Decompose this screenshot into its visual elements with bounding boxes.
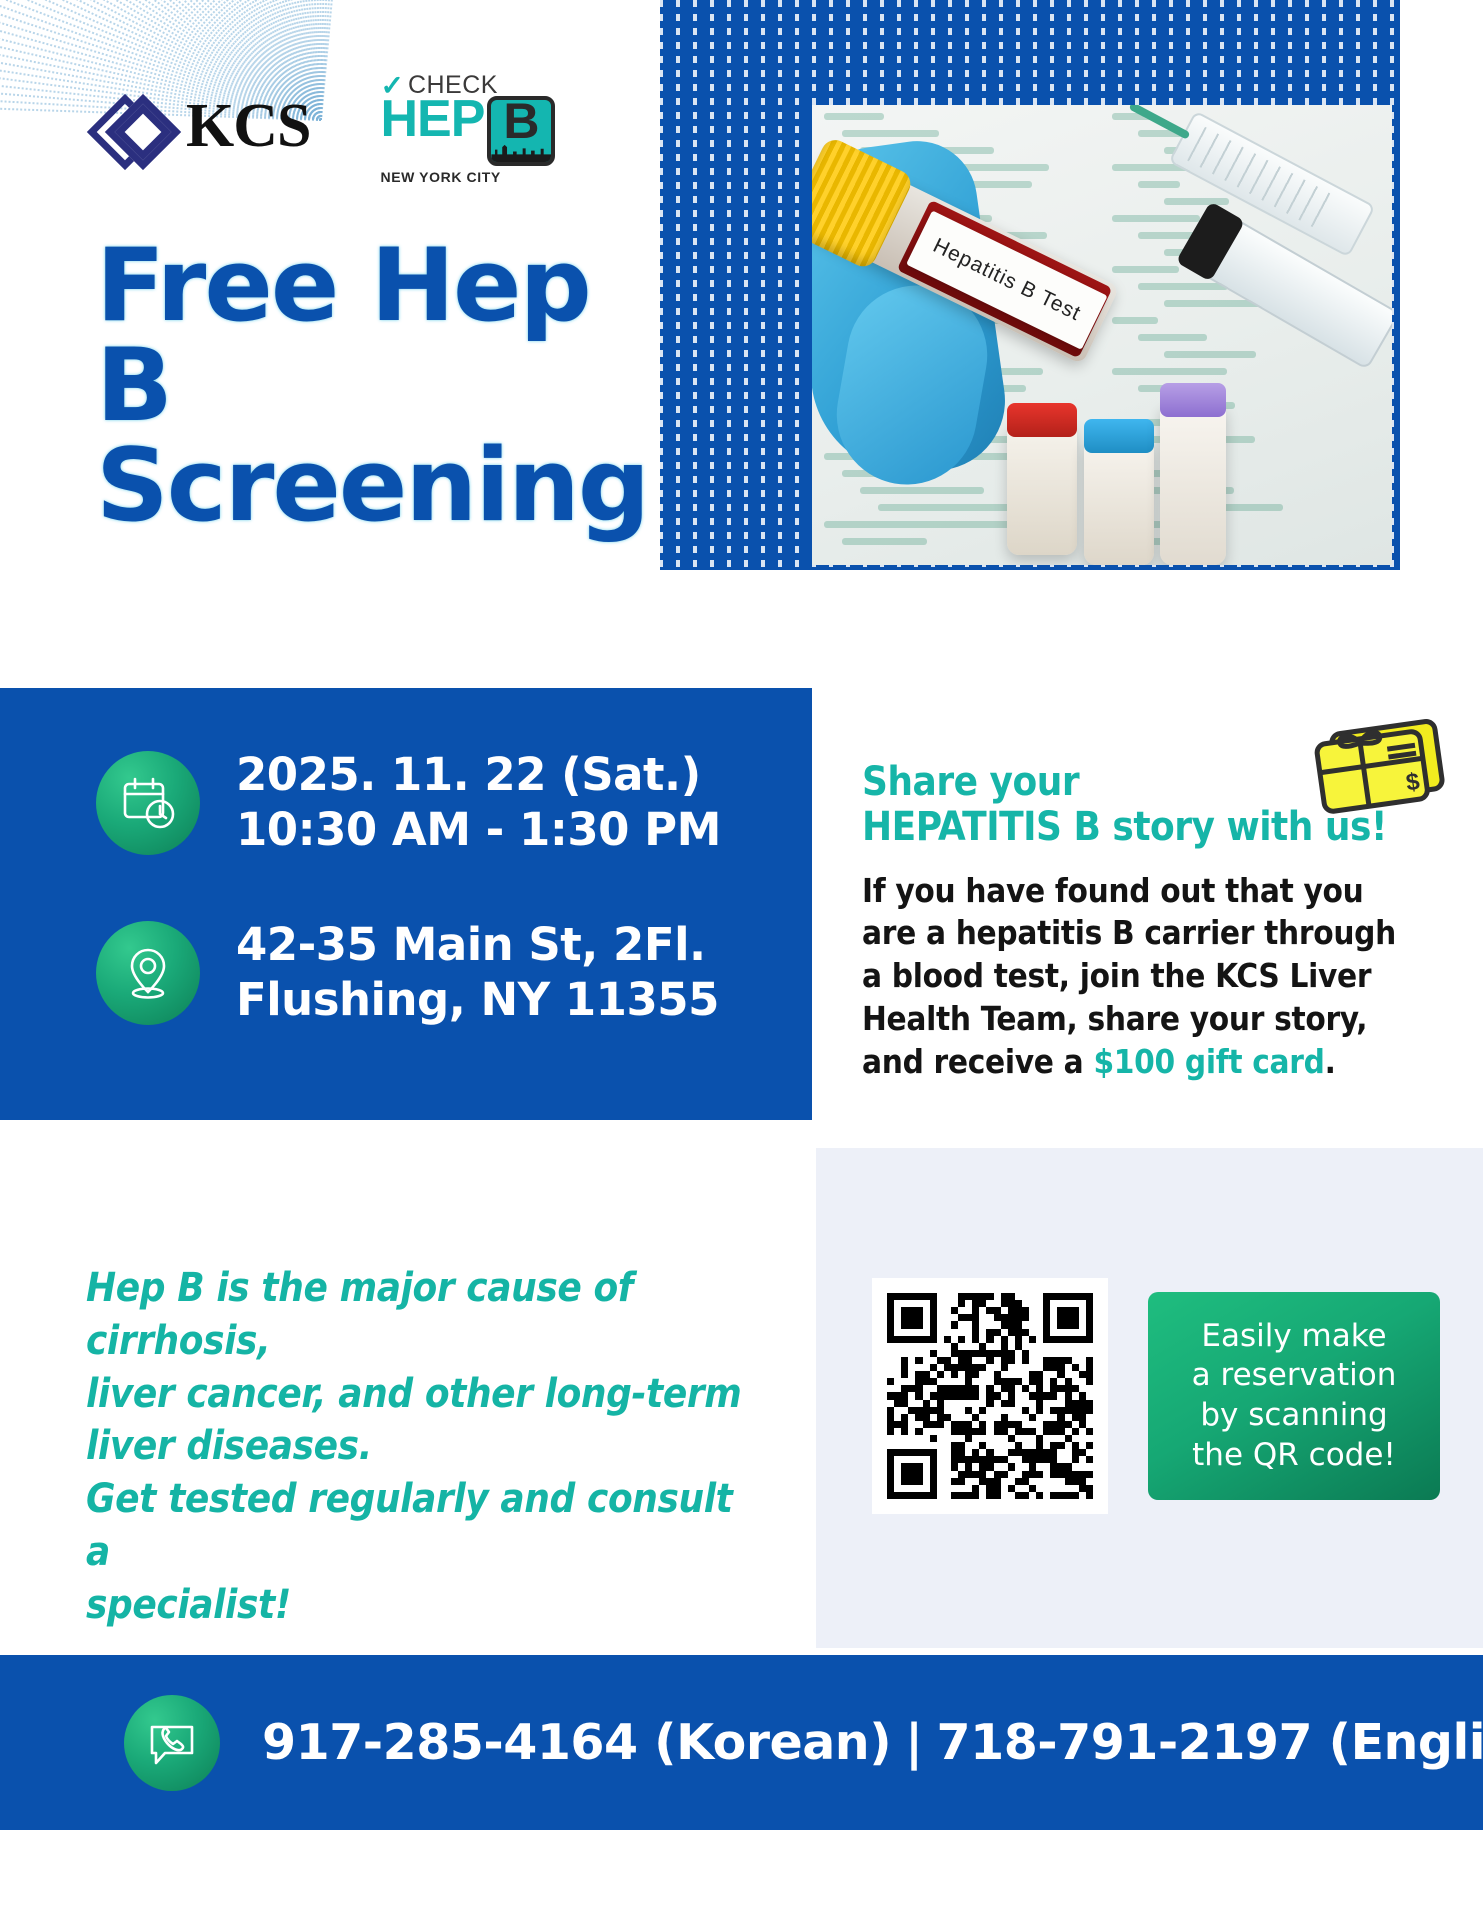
- headline-line-1: Free Hep B: [96, 235, 656, 435]
- checkhep-b-badge: B: [487, 96, 555, 166]
- health-statement: Hep B is the major cause of cirrhosis, l…: [86, 1262, 766, 1632]
- flyer-poster: KCS ✓ CHECK HEP B NEW YORK CITY Free Hep…: [0, 0, 1483, 1920]
- reservation-line-3: by scanning: [1200, 1397, 1387, 1433]
- event-info-panel: 2025. 11. 22 (Sat.) 10:30 AM - 1:30 PM 4…: [0, 688, 812, 1120]
- logo-row: KCS ✓ CHECK HEP B NEW YORK CITY: [96, 66, 555, 185]
- reservation-qr-code[interactable]: [872, 1278, 1108, 1514]
- page-title: Free Hep B Screening: [96, 235, 656, 535]
- share-story-body: If you have found out that you are a hep…: [862, 870, 1422, 1084]
- reservation-text: Easily make a reservation by scanning th…: [1192, 1317, 1397, 1476]
- checkhep-b-letter: B: [503, 96, 539, 146]
- event-address-line2: Flushing, NY 11355: [236, 973, 719, 1028]
- phone-chat-icon: [124, 1695, 220, 1791]
- event-time: 10:30 AM - 1:30 PM: [236, 803, 721, 858]
- statement-line-4: Get tested regularly and consult a: [86, 1473, 766, 1579]
- event-datetime-row: 2025. 11. 22 (Sat.) 10:30 AM - 1:30 PM: [96, 748, 721, 858]
- reservation-line-2: a reservation: [1192, 1357, 1397, 1393]
- contact-bar: 917-285-4164 (Korean)|718-791-2197 (Engl…: [0, 1655, 1483, 1830]
- blood-test-photo: Hepatitis B Test: [812, 105, 1392, 565]
- kcs-diamond-icon: [96, 87, 174, 165]
- statement-line-3: liver diseases.: [86, 1420, 766, 1473]
- event-address-line1: 42-35 Main St, 2Fl.: [236, 918, 719, 973]
- map-pin-icon: [96, 921, 200, 1025]
- phone-korean[interactable]: 917-285-4164 (Korean): [262, 1714, 891, 1771]
- statement-line-5: specialist!: [86, 1579, 766, 1632]
- event-address-text: 42-35 Main St, 2Fl. Flushing, NY 11355: [236, 918, 719, 1028]
- event-datetime-text: 2025. 11. 22 (Sat.) 10:30 AM - 1:30 PM: [236, 748, 721, 858]
- phone-english[interactable]: 718-791-2197 (English): [937, 1714, 1483, 1771]
- statement-line-2: liver cancer, and other long-term: [86, 1368, 766, 1421]
- reservation-callout-box: Easily make a reservation by scanning th…: [1148, 1292, 1440, 1500]
- reservation-line-4: the QR code!: [1192, 1437, 1396, 1473]
- share-story-section: $ Share your HEPATITIS B story with us! …: [862, 760, 1422, 1084]
- reservation-line-1: Easily make: [1201, 1318, 1386, 1354]
- contact-phone-numbers[interactable]: 917-285-4164 (Korean)|718-791-2197 (Engl…: [262, 1714, 1483, 1771]
- share-body-suffix: .: [1325, 1042, 1336, 1081]
- top-right-notch: [1400, 0, 1483, 570]
- gift-card-icon: $: [1307, 710, 1457, 815]
- checkhep-hep-word: HEP: [380, 96, 484, 144]
- statement-line-1: Hep B is the major cause of cirrhosis,: [86, 1262, 766, 1368]
- event-location-row: 42-35 Main St, 2Fl. Flushing, NY 11355: [96, 918, 719, 1028]
- check-hep-b-logo: ✓ CHECK HEP B NEW YORK CITY: [380, 66, 555, 185]
- phone-separator: |: [905, 1714, 922, 1771]
- gift-card-amount: $100 gift card: [1093, 1042, 1324, 1081]
- headline-line-2: Screening: [96, 435, 656, 535]
- calendar-clock-icon: [96, 751, 200, 855]
- kcs-logo: KCS: [96, 87, 310, 165]
- event-date: 2025. 11. 22 (Sat.): [236, 748, 721, 803]
- kcs-wordmark: KCS: [186, 95, 310, 157]
- checkhep-city-label: NEW YORK CITY: [380, 169, 555, 185]
